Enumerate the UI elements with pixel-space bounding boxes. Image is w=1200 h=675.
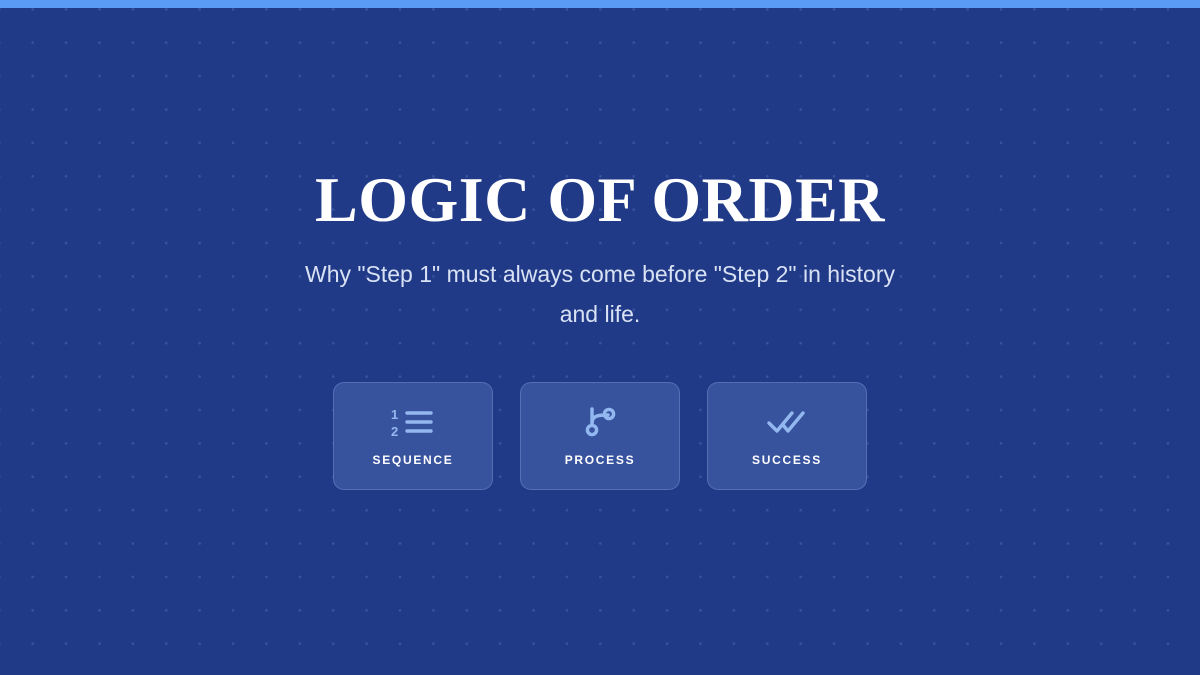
feature-card-process[interactable]: PROCESS — [520, 382, 680, 490]
page-subtitle: Why "Step 1" must always come before "St… — [300, 254, 900, 334]
svg-text:1: 1 — [391, 407, 398, 422]
page-title: LOGIC OF ORDER — [315, 168, 885, 232]
slide-canvas: LOGIC OF ORDER Why "Step 1" must always … — [0, 0, 1200, 675]
feature-card-success[interactable]: SUCCESS — [707, 382, 867, 490]
double-check-icon — [766, 405, 808, 439]
feature-card-label: SUCCESS — [752, 453, 822, 467]
slide-content: LOGIC OF ORDER Why "Step 1" must always … — [0, 0, 1200, 675]
feature-card-row: 1 2 SEQUENCE — [333, 382, 867, 490]
ordered-list-icon: 1 2 — [391, 405, 435, 439]
svg-text:2: 2 — [391, 424, 398, 438]
git-branch-icon — [583, 405, 617, 439]
feature-card-label: PROCESS — [565, 453, 636, 467]
feature-card-label: SEQUENCE — [373, 453, 454, 467]
feature-card-sequence[interactable]: 1 2 SEQUENCE — [333, 382, 493, 490]
